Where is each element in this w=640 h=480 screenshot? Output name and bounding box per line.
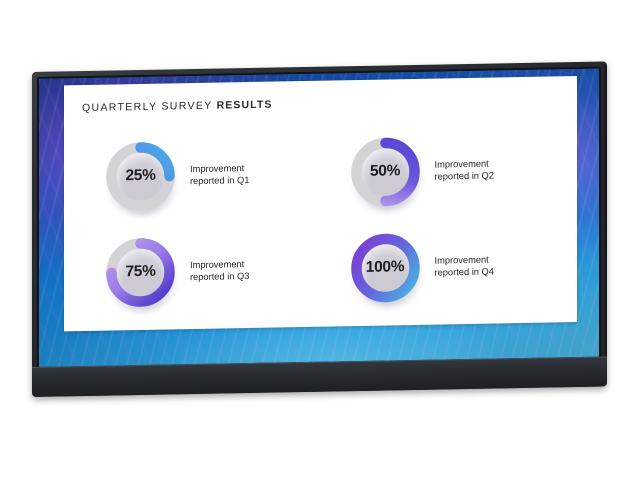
donut-label-line1: Improvement: [190, 258, 249, 271]
page-title-regular: QUARTERLY SURVEY: [82, 100, 217, 114]
monitor-right-edge: [602, 63, 607, 384]
donut-value-q1: 25%: [102, 137, 179, 215]
donut-label-line1: Improvement: [190, 162, 249, 175]
donut-cell-q2: 50% Improvement reported in Q2: [323, 120, 568, 220]
donut-label-q2: Improvement reported in Q2: [435, 157, 494, 183]
monitor-screen: QUARTERLY SURVEY RESULTS: [39, 69, 599, 367]
page-title: QUARTERLY SURVEY RESULTS: [82, 99, 273, 114]
donut-cell-q3: 75% Improvement reported in Q3: [78, 221, 323, 321]
donut-label-q4: Improvement reported in Q4: [435, 253, 494, 279]
donut-label-q1: Improvement reported in Q1: [190, 162, 249, 188]
donut-chart-q1: 25%: [102, 137, 179, 215]
donut-chart-q2: 50%: [347, 132, 424, 210]
donut-chart-grid: 25% Improvement reported in Q1: [78, 120, 567, 321]
presentation-slide: QUARTERLY SURVEY RESULTS: [64, 76, 577, 331]
donut-label-line1: Improvement: [435, 157, 494, 170]
donut-label-line2: reported in Q1: [190, 174, 249, 187]
donut-chart-q4: 100%: [347, 228, 424, 306]
donut-cell-q4: 100% Improvement reported in Q4: [323, 216, 568, 316]
page-title-bold: RESULTS: [217, 99, 273, 112]
donut-chart-q3: 75%: [102, 233, 179, 311]
monitor-device: QUARTERLY SURVEY RESULTS: [32, 61, 607, 397]
donut-label-line2: reported in Q2: [435, 170, 494, 183]
donut-value-q4: 100%: [347, 228, 424, 306]
donut-value-q3: 75%: [102, 233, 179, 311]
donut-label-line2: reported in Q4: [435, 266, 494, 279]
donut-label-q3: Improvement reported in Q3: [190, 258, 249, 284]
screenshot-stage: QUARTERLY SURVEY RESULTS: [0, 0, 640, 480]
donut-label-line2: reported in Q3: [190, 270, 249, 283]
donut-cell-q1: 25% Improvement reported in Q1: [78, 125, 323, 225]
donut-label-line1: Improvement: [435, 253, 494, 266]
donut-value-q2: 50%: [347, 132, 424, 210]
